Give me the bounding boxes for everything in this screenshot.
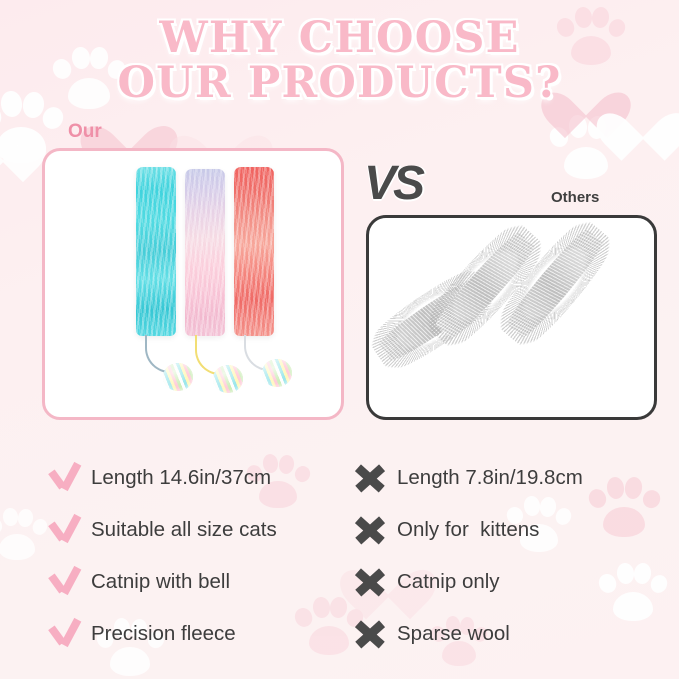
our-feature-label: Suitable all size cats bbox=[91, 518, 277, 542]
vs-badge: VS bbox=[364, 156, 422, 211]
our-feature-3: Catnip with bell bbox=[46, 556, 230, 608]
comparison-row: Suitable all size cats Only for kittens bbox=[0, 504, 679, 556]
other-feature-1: Length 7.8in/19.8cm bbox=[352, 452, 583, 504]
rattan-ball bbox=[262, 359, 292, 387]
our-feature-4: Precision fleece bbox=[46, 608, 236, 660]
cross-icon bbox=[352, 461, 390, 495]
other-products-panel bbox=[366, 215, 657, 420]
our-feature-label: Length 14.6in/37cm bbox=[91, 466, 271, 490]
heart-icon bbox=[0, 118, 32, 170]
title-line-1: WHY CHOOSE bbox=[0, 16, 679, 61]
our-feature-1: Length 14.6in/37cm bbox=[46, 452, 271, 504]
cross-icon bbox=[352, 617, 390, 651]
title-line-2: OUR PRODUCTS? bbox=[0, 61, 679, 106]
other-feature-4: Sparse wool bbox=[352, 608, 510, 660]
other-feature-label: Only for kittens bbox=[397, 518, 539, 542]
check-icon bbox=[46, 565, 84, 599]
other-feature-label: Sparse wool bbox=[397, 622, 510, 646]
other-feature-label: Catnip only bbox=[397, 570, 500, 594]
comparison-infographic: WHY CHOOSE OUR PRODUCTS? Our Others VS L… bbox=[0, 0, 679, 679]
cross-icon bbox=[352, 513, 390, 547]
other-feature-3: Catnip only bbox=[352, 556, 500, 608]
other-feature-2: Only for kittens bbox=[352, 504, 539, 556]
paw-print-icon bbox=[548, 112, 624, 182]
our-feature-label: Catnip with bell bbox=[91, 570, 230, 594]
cross-icon bbox=[352, 565, 390, 599]
our-label: Our bbox=[68, 121, 102, 143]
check-icon bbox=[46, 513, 84, 547]
comparison-row: Length 14.6in/37cm Length 7.8in/19.8cm bbox=[0, 452, 679, 504]
check-icon bbox=[46, 617, 84, 651]
our-products-panel bbox=[42, 148, 344, 420]
red-plush-wand bbox=[234, 167, 274, 336]
our-feature-2: Suitable all size cats bbox=[46, 504, 277, 556]
our-feature-label: Precision fleece bbox=[91, 622, 236, 646]
comparison-list: Length 14.6in/37cm Length 7.8in/19.8cm S… bbox=[0, 452, 679, 660]
rattan-ball bbox=[213, 365, 243, 393]
teal-plush-wand bbox=[136, 167, 176, 336]
rattan-ball bbox=[163, 363, 193, 391]
comparison-row: Catnip with bell Catnip only bbox=[0, 556, 679, 608]
pink-plush-wand bbox=[185, 169, 225, 336]
others-label: Others bbox=[551, 189, 599, 206]
comparison-row: Precision fleece Sparse wool bbox=[0, 608, 679, 660]
other-feature-label: Length 7.8in/19.8cm bbox=[397, 466, 583, 490]
page-title: WHY CHOOSE OUR PRODUCTS? bbox=[0, 16, 679, 106]
check-icon bbox=[46, 461, 84, 495]
